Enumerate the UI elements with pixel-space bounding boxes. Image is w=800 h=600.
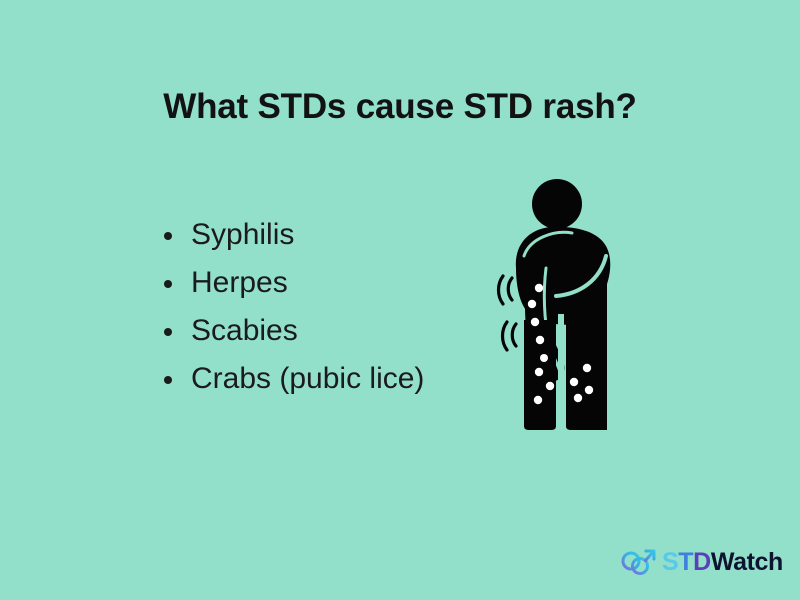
logo-text-watch: Watch bbox=[711, 548, 783, 576]
list-item: Crabs (pubic lice) bbox=[160, 360, 424, 408]
list-item-label: Syphilis bbox=[191, 218, 294, 251]
list-item: Scabies bbox=[160, 312, 424, 360]
logo-text-d: D bbox=[693, 548, 711, 576]
bullet-dot-icon bbox=[164, 280, 172, 288]
bullet-dot-icon bbox=[164, 328, 172, 336]
gender-symbols-icon bbox=[618, 545, 658, 579]
list-item-label: Crabs (pubic lice) bbox=[191, 362, 424, 395]
figure-body bbox=[516, 179, 610, 430]
list-item-label: Scabies bbox=[191, 314, 298, 347]
bullet-dot-icon bbox=[164, 376, 172, 384]
page-title: What STDs cause STD rash? bbox=[0, 86, 800, 128]
bullet-dot-icon bbox=[164, 232, 172, 240]
itch-lines-icon bbox=[499, 276, 517, 350]
list-item: Herpes bbox=[160, 264, 424, 312]
slide-canvas: What STDs cause STD rash? Syphilis Herpe… bbox=[0, 0, 800, 600]
logo-text-t: T bbox=[678, 548, 693, 576]
list-item-label: Herpes bbox=[191, 266, 288, 299]
stdwatch-logo[interactable]: STDWatch bbox=[618, 542, 783, 582]
logo-text-s: S bbox=[662, 548, 678, 576]
list-item: Syphilis bbox=[160, 216, 424, 264]
std-list: Syphilis Herpes Scabies Crabs (pubic lic… bbox=[160, 216, 424, 408]
person-scratching-rash-icon bbox=[494, 172, 626, 430]
logo-text: STDWatch bbox=[662, 548, 783, 576]
